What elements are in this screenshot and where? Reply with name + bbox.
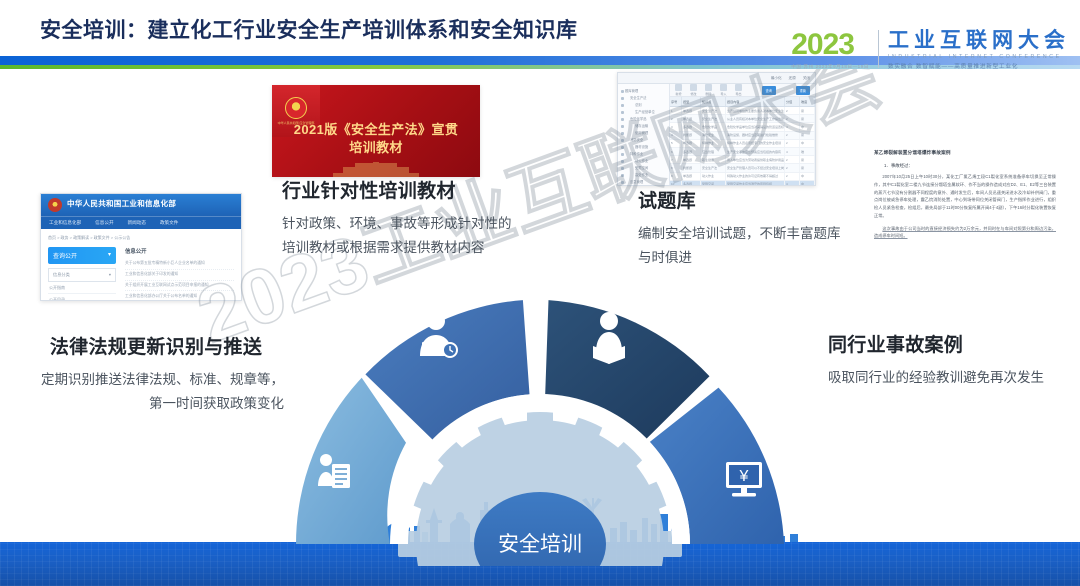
chevron-down-icon: ▾ bbox=[109, 272, 111, 278]
table-cell: 4 bbox=[785, 123, 800, 130]
column-header: 知识点 bbox=[701, 97, 726, 106]
table-cell: 判断题 bbox=[682, 132, 701, 139]
document-heading: 1．事故经过： bbox=[884, 163, 1056, 169]
table-cell: 安全生产法 bbox=[701, 164, 726, 171]
toolbar-delete-button[interactable]: 删除 bbox=[705, 84, 712, 96]
label-case: 同行业事故案例 吸取同行业的经验教训避免再次发生 bbox=[828, 330, 1072, 390]
table-cell: 单选题 bbox=[682, 107, 701, 114]
table-cell: 用人单位应当为劳动者提供职业病防护用品 bbox=[726, 156, 785, 163]
table-cell: 易 bbox=[800, 164, 815, 171]
training-material-cover: 中华人民共和国 应急管理部 2021版《安全生产法》宣贯 培训教材 bbox=[272, 85, 480, 177]
tree-node: 危险化学品 bbox=[620, 115, 667, 122]
table-row[interactable]: 9单选题动火作业特殊动火作业的许可证有效期不得超过2中 bbox=[670, 173, 815, 181]
logo-tagline: 数实融合 数智赋能——高质量推进新型工业化 bbox=[888, 62, 1018, 70]
table-cell: 2 bbox=[785, 140, 800, 147]
tree-node: 使用管理 bbox=[620, 129, 667, 136]
national-emblem-icon bbox=[48, 198, 62, 212]
miit-site-header: 中华人民共和国工业和信息化部 bbox=[41, 194, 241, 216]
table-cell: 危险化学品 bbox=[701, 123, 726, 130]
slide-root: 安全培训：建立化工行业安全生产培训体系和安全知识库 2023 中国·苏州 202… bbox=[0, 0, 1080, 586]
table-cell: 易 bbox=[800, 156, 815, 163]
table-cell: 从业人员有权对本单位安全生产工作提出建议 bbox=[726, 115, 785, 122]
query-button-label: 查询公开 bbox=[53, 251, 77, 260]
tree-node: 器材设施 bbox=[620, 143, 667, 150]
window-titlebar: 最小化 还原 关闭 bbox=[618, 73, 815, 84]
table-header: 序号 题型 知识点 题目内容 分值 难度 bbox=[670, 97, 815, 107]
accident-case-document: 某乙烯裂解装置分馏塔爆炸事故案例 1．事故经过： 2007年10月25日上午10… bbox=[862, 142, 1068, 320]
plus-icon bbox=[675, 84, 682, 91]
miit-nav: 工业和信息化部 信息公开 新闻动态 政策文件 bbox=[41, 216, 241, 229]
label-law: 法律法规更新识别与推送 定期识别推送法律法规、标准、规章等，第一时间获取政策变化 bbox=[28, 332, 284, 415]
logo-divider bbox=[878, 30, 879, 68]
list-item: 关于组织开展工业互联网试点示范项目申报的通知 bbox=[125, 281, 234, 292]
tree-node: 应急管理 bbox=[620, 178, 667, 185]
list-item: 公开指南 bbox=[48, 282, 116, 294]
tiananmen-icon bbox=[333, 162, 419, 177]
question-category-tree: 题库管理 安全生产法 总则 生产经营单位 危险化学品 储存运输 使用管理 消防安… bbox=[618, 84, 670, 186]
cover-title-line2: 培训教材 bbox=[272, 137, 480, 156]
table-cell: 单选题 bbox=[682, 173, 701, 180]
label-qbank-title: 试题库 bbox=[638, 186, 853, 213]
miit-nav-item: 工业和信息化部 bbox=[49, 220, 81, 226]
document-title: 某乙烯裂解装置分馏塔爆炸事故案例 bbox=[874, 150, 1056, 156]
label-case-title: 同行业事故案例 bbox=[828, 330, 1072, 357]
label-case-body: 吸取同行业的经验教训避免再次发生 bbox=[828, 366, 1072, 390]
miit-site-title: 中华人民共和国工业和信息化部 bbox=[67, 198, 176, 209]
table-cell: 危险化学品单位应当对其铺设的管道设置标志 bbox=[726, 123, 785, 130]
tree-node: 安全生产法 bbox=[620, 94, 667, 101]
list-title: 信息公开 bbox=[125, 247, 234, 255]
law-arc[interactable] bbox=[296, 378, 406, 544]
table-cell: 消防安全 bbox=[701, 132, 726, 139]
table-cell: 易 bbox=[800, 115, 815, 122]
table-cell: 中 bbox=[800, 173, 815, 180]
list-item: 工业和信息化部关于印发的通知 bbox=[125, 270, 234, 281]
column-header: 题目内容 bbox=[726, 97, 785, 106]
label-material-title: 行业针对性培训教材 bbox=[282, 176, 514, 203]
cover-title-line1: 2021版《安全生产法》宣贯 bbox=[272, 119, 480, 138]
table-cell: 中 bbox=[800, 140, 815, 147]
page-title: 安全培训：建立化工行业安全生产培训体系和安全知识库 bbox=[40, 14, 578, 44]
export-icon bbox=[735, 84, 742, 91]
label-law-body: 定期识别推送法律法规、标准、规章等，第一时间获取政策变化 bbox=[28, 368, 284, 415]
miit-list-panel: 信息公开 关于公布第五批专精特新小巨人企业名单的通知 工业和信息化部关于印发的通… bbox=[125, 247, 234, 301]
table-cell: 2 bbox=[785, 173, 800, 180]
document-paragraph: 2007年10月25日上午10时30分，某化工厂氯乙烯工段C1裂化室系统准备停车… bbox=[874, 173, 1056, 220]
minimize-icon: 最小化 bbox=[771, 76, 782, 81]
table-cell: 应急管理 bbox=[701, 148, 726, 155]
label-law-title: 法律法规更新识别与推送 bbox=[28, 332, 284, 359]
search-button[interactable]: 查询 bbox=[762, 86, 776, 95]
tree-node: 高处作业 bbox=[620, 171, 667, 178]
table-cell: 2 bbox=[670, 115, 682, 122]
document-paragraph: 这次事故由于公司当时的直接经济损失约为2万余元，并同时在与车间对照第分和周边污染… bbox=[874, 225, 1056, 241]
label-qbank-body: 编制安全培训试题，不断丰富题库与时俱进 bbox=[638, 222, 853, 269]
table-cell: 单选题 bbox=[682, 140, 701, 147]
slide-header: 安全培训：建立化工行业安全生产培训体系和安全知识库 2023 中国·苏州 202… bbox=[0, 0, 1080, 56]
table-cell: 特种作业人员必须经专门的安全作业培训 bbox=[726, 140, 785, 147]
table-cell: 2 bbox=[785, 164, 800, 171]
table-cell: 特殊动火作业的许可证有效期不得超过 bbox=[726, 173, 785, 180]
table-cell: 2 bbox=[785, 156, 800, 163]
table-row[interactable]: 3多选题危险化学品危险化学品单位应当对其铺设的管道设置标志4中 bbox=[670, 123, 815, 131]
tree-node: 生产经营单位 bbox=[620, 108, 667, 115]
list-item: 关于公布第五批专精特新小巨人企业名单的通知 bbox=[125, 259, 234, 270]
table-cell: 3 bbox=[670, 123, 682, 130]
chevron-down-icon: ▾ bbox=[108, 251, 111, 260]
query-button: 查询公开 ▾ bbox=[48, 247, 116, 264]
table-cell: 动火作业 bbox=[701, 173, 726, 180]
miit-body: 首页 > 政务 > 政策解读 > 政策文件 > 公示公告 查询公开 ▾ 信息分类… bbox=[41, 229, 241, 301]
question-bank-screenshot: 最小化 还原 关闭 题库管理 安全生产法 总则 生产经营单位 危险化学品 储存运… bbox=[617, 72, 816, 186]
close-icon: 关闭 bbox=[803, 76, 810, 81]
table-cell: 中 bbox=[800, 123, 815, 130]
table-cell: 安全生产法 bbox=[701, 115, 726, 122]
table-row[interactable]: 5单选题特种作业特种作业人员必须经专门的安全作业培训2中 bbox=[670, 140, 815, 148]
table-row[interactable]: 7单选题职业健康用人单位应当为劳动者提供职业病防护用品2易 bbox=[670, 156, 815, 164]
miit-website-screenshot: 中华人民共和国工业和信息化部 工业和信息化部 信息公开 新闻动态 政策文件 首页… bbox=[40, 193, 242, 301]
miit-nav-item: 信息公开 bbox=[95, 220, 113, 226]
toolbar-export-button[interactable]: 导出 bbox=[735, 84, 742, 96]
conference-logo: 2023 中国·苏州 2023年9月18日—19日 工业互联网大会 INDUST… bbox=[791, 30, 1070, 70]
restore-icon: 还原 bbox=[789, 76, 796, 81]
table-row[interactable]: 6多选题应急管理生产安全事故应急预案应当包括的内容有4难 bbox=[670, 148, 815, 156]
table-cell: 4 bbox=[670, 132, 682, 139]
toolbar-import-button[interactable]: 导入 bbox=[720, 84, 727, 96]
table-body: 1单选题安全生产法生产经营单位的主要负责人对本单位安全生产工作2易2单选题安全生… bbox=[670, 107, 815, 186]
import-icon bbox=[720, 84, 727, 91]
question-bank-toolbar: 新增 修改 删除 导入 导出 查询 重置 bbox=[670, 84, 815, 97]
table-row[interactable]: 4判断题消防安全消防设施、器材应当定期进行检验维修2易 bbox=[670, 132, 815, 140]
table-cell: 多选题 bbox=[682, 148, 701, 155]
column-header: 题型 bbox=[682, 97, 701, 106]
label-material: 行业针对性培训教材 针对政策、环境、事故等形成针对性的培训教材或根据需求提供教材… bbox=[282, 176, 514, 259]
tree-node: 总则 bbox=[620, 101, 667, 108]
semicircle-diagram: 安全培训 bbox=[258, 276, 822, 566]
category-select: 信息分类 ▾ bbox=[48, 268, 116, 282]
table-cell: 判断题 bbox=[682, 164, 701, 171]
tree-node: 动火作业 bbox=[620, 157, 667, 164]
category-select-label: 信息分类 bbox=[53, 272, 70, 278]
national-emblem-icon bbox=[285, 97, 307, 119]
table-cell: 难 bbox=[800, 148, 815, 155]
reset-button[interactable]: 重置 bbox=[796, 86, 810, 95]
table-cell: 2 bbox=[785, 115, 800, 122]
logo-year: 2023 bbox=[791, 30, 854, 60]
table-cell: 安全生产法 bbox=[701, 107, 726, 114]
label-material-body: 针对政策、环境、事故等形成针对性的培训教材或根据需求提供教材内容 bbox=[282, 212, 514, 259]
trash-icon bbox=[705, 84, 712, 91]
table-cell: 安全生产管理人员可以不经过安全培训上岗 bbox=[726, 164, 785, 171]
table-cell: 7 bbox=[670, 156, 682, 163]
table-row[interactable]: 8判断题安全生产法安全生产管理人员可以不经过安全培训上岗2易 bbox=[670, 164, 815, 172]
column-header: 难度 bbox=[800, 97, 815, 106]
table-cell: 生产安全事故应急预案应当包括的内容有 bbox=[726, 148, 785, 155]
table-cell: 多选题 bbox=[682, 123, 701, 130]
table-cell: 2 bbox=[785, 132, 800, 139]
table-cell: 9 bbox=[670, 173, 682, 180]
logo-year-subtitle: 中国·苏州 2023年9月18日—19日 bbox=[791, 64, 869, 70]
tree-node: 题库管理 bbox=[620, 87, 667, 94]
miit-nav-item: 政策文件 bbox=[160, 220, 178, 226]
tree-node: 特种作业 bbox=[620, 150, 667, 157]
table-cell: 2 bbox=[785, 107, 800, 114]
table-cell: 职业健康 bbox=[701, 156, 726, 163]
list-item: 公开目录 bbox=[48, 294, 116, 301]
breadcrumb: 首页 > 政务 > 政策解读 > 政策文件 > 公示公告 bbox=[48, 235, 234, 241]
tree-node: 储存运输 bbox=[620, 122, 667, 129]
table-cell: 单选题 bbox=[682, 115, 701, 122]
table-cell: 4 bbox=[785, 148, 800, 155]
table-cell: 1 bbox=[670, 107, 682, 114]
table-cell: 易 bbox=[800, 107, 815, 114]
table-cell: 6 bbox=[670, 148, 682, 155]
table-cell: 易 bbox=[800, 132, 815, 139]
toolbar-add-button[interactable]: 新增 bbox=[675, 84, 682, 96]
table-row[interactable]: 2单选题安全生产法从业人员有权对本单位安全生产工作提出建议2易 bbox=[670, 115, 815, 123]
tree-node: 受限空间 bbox=[620, 164, 667, 171]
toolbar-edit-button[interactable]: 修改 bbox=[690, 84, 697, 96]
table-cell: 5 bbox=[670, 140, 682, 147]
label-qbank: 试题库 编制安全培训试题，不断丰富题库与时俱进 bbox=[638, 186, 853, 269]
table-cell: 消防设施、器材应当定期进行检验维修 bbox=[726, 132, 785, 139]
logo-title-cn: 工业互联网大会 bbox=[888, 30, 1070, 52]
pencil-icon bbox=[690, 84, 697, 91]
miit-nav-item: 新闻动态 bbox=[128, 220, 146, 226]
miit-filter-panel: 查询公开 ▾ 信息分类 ▾ 公开指南 公开目录 公开年报 bbox=[48, 247, 116, 301]
column-header: 序号 bbox=[670, 97, 682, 106]
logo-title-en: INDUSTRIAL INTERNET CONFERENCE bbox=[888, 54, 1062, 60]
table-row[interactable]: 1单选题安全生产法生产经营单位的主要负责人对本单位安全生产工作2易 bbox=[670, 107, 815, 115]
tree-node: 消防安全 bbox=[620, 136, 667, 143]
list-item: 工业和信息化部办公厅关于公布名单的通知 bbox=[125, 291, 234, 301]
table-cell: 特种作业 bbox=[701, 140, 726, 147]
table-cell: 8 bbox=[670, 164, 682, 171]
table-cell: 生产经营单位的主要负责人对本单位安全生产工作 bbox=[726, 107, 785, 114]
center-hub-label: 安全培训 bbox=[498, 533, 582, 556]
column-header: 分值 bbox=[785, 97, 800, 106]
svg-text:¥: ¥ bbox=[739, 468, 749, 485]
table-cell: 单选题 bbox=[682, 156, 701, 163]
